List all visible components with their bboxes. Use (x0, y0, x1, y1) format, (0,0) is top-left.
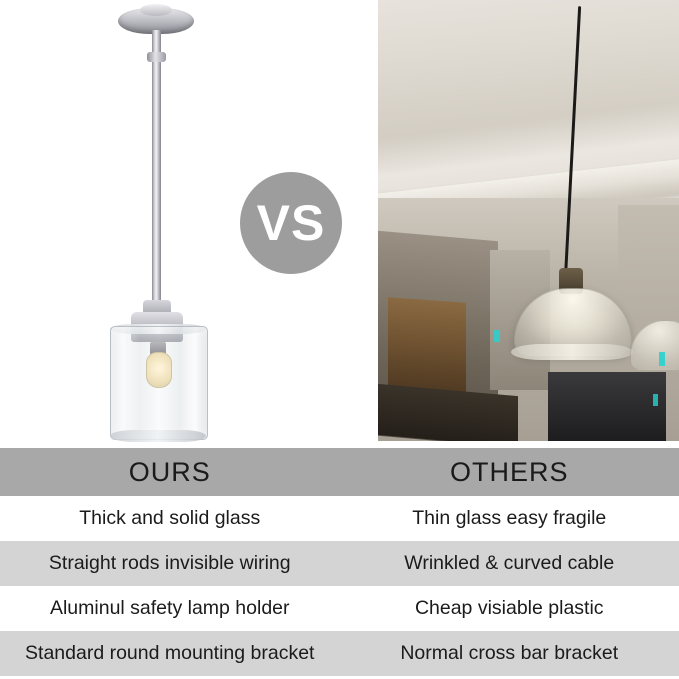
dome-shade-rim (511, 344, 633, 360)
table-row: Aluminul safety lamp holder Cheap visiab… (0, 586, 679, 631)
cell-others-1: Thin glass easy fragile (340, 496, 679, 541)
vs-badge-label: VS (257, 194, 326, 252)
cell-ours-4: Standard round mounting bracket (0, 631, 340, 676)
table-row: Standard round mounting bracket Normal c… (0, 631, 679, 676)
cell-ours-1: Thick and solid glass (0, 496, 340, 541)
teal-accent-1 (494, 330, 500, 342)
television (548, 372, 666, 441)
others-pendant-light-photo (378, 0, 679, 441)
canopy-highlight (140, 4, 172, 16)
table-header-row: OURS OTHERS (0, 448, 679, 496)
rod-joint (147, 52, 166, 62)
header-cell-others: OTHERS (340, 448, 679, 496)
comparison-infographic: VS OURS OTHERS (0, 0, 679, 679)
cell-ours-2: Straight rods invisible wiring (0, 541, 340, 586)
wood-cabinet (388, 297, 466, 392)
teal-accent-2 (659, 352, 665, 366)
photo-comparison-area: VS (0, 0, 679, 448)
edison-bulb (146, 352, 172, 388)
table-row: Straight rods invisible wiring Wrinkled … (0, 541, 679, 586)
glass-shade-bottom-rim (110, 430, 206, 442)
vs-badge: VS (240, 172, 342, 274)
cell-ours-3: Aluminul safety lamp holder (0, 586, 340, 631)
comparison-table: OURS OTHERS Thick and solid glass Thin g… (0, 448, 679, 679)
header-cell-ours: OURS (0, 448, 340, 496)
table-row: Thick and solid glass Thin glass easy fr… (0, 496, 679, 541)
cell-others-2: Wrinkled & curved cable (340, 541, 679, 586)
cell-others-3: Cheap visiable plastic (340, 586, 679, 631)
teal-accent-3 (653, 394, 658, 406)
cell-others-4: Normal cross bar bracket (340, 631, 679, 676)
straight-rod (152, 30, 161, 330)
